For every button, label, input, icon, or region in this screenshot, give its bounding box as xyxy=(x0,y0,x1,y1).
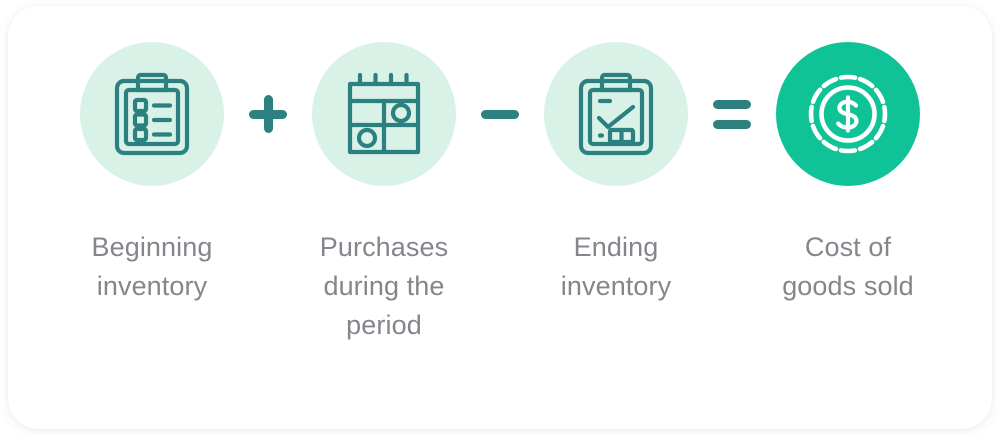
term-purchases-during-period: Purchases during the period xyxy=(304,42,464,345)
diagram-card: Beginning inventory xyxy=(8,6,992,429)
clipboard-check-icon xyxy=(577,71,655,157)
term-ending-inventory: Ending inventory xyxy=(536,42,696,306)
term-beginning-inventory: Beginning inventory xyxy=(72,42,232,306)
plus-icon xyxy=(249,95,287,133)
icon-disc-ending-inventory xyxy=(544,42,688,186)
term-label-ending-inventory: Ending inventory xyxy=(561,228,671,306)
icon-disc-beginning-inventory xyxy=(80,42,224,186)
term-cost-of-goods-sold: Cost of goods sold xyxy=(768,42,928,306)
calendar-icon xyxy=(344,72,424,156)
term-label-cost-of-goods-sold: Cost of goods sold xyxy=(782,228,914,306)
equals-icon xyxy=(713,100,751,129)
minus-icon xyxy=(481,110,519,119)
term-label-purchases: Purchases during the period xyxy=(320,228,448,345)
clipboard-checklist-icon xyxy=(113,71,191,157)
term-label-beginning-inventory: Beginning inventory xyxy=(91,228,212,306)
icon-disc-purchases xyxy=(312,42,456,186)
plus-operator xyxy=(232,42,304,186)
equals-operator xyxy=(696,42,768,186)
icon-disc-cost-of-goods-sold xyxy=(776,42,920,186)
minus-operator xyxy=(464,42,536,186)
cogs-formula: Beginning inventory xyxy=(8,6,992,429)
coin-dollar-icon xyxy=(803,69,893,159)
